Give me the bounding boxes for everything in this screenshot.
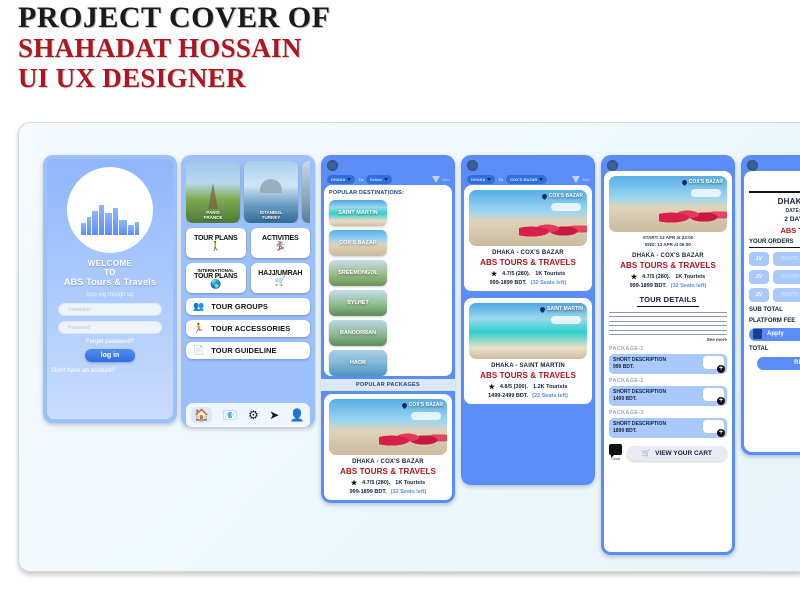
app-logo <box>67 167 153 253</box>
menu-tile-row-2: INTERNATIONAL TOUR PLANS 🌎 HAJJ/UMRAH 🛒 <box>186 263 310 293</box>
package-1-row[interactable]: SHORT DESCRIPTION 999 BDT. + <box>609 354 727 374</box>
package-hero-button[interactable] <box>411 412 441 420</box>
title-line-2: SHAHADAT HOSSAIN <box>18 34 518 64</box>
package-price: 999-1899 BDT. <box>630 283 667 289</box>
login-button[interactable]: log in <box>85 349 135 362</box>
package-1-label: PACKAGE-1 <box>609 346 727 352</box>
order-row[interactable]: 1V PHOTO <box>749 252 800 266</box>
details-appbar <box>601 155 735 171</box>
package-price: 1899 BDT. <box>613 428 666 434</box>
schedule-start: START: 12 APR at 23:00 <box>609 235 727 242</box>
destination-dropdown[interactable]: COX'S BAZAR <box>506 175 547 184</box>
package-rating: 4.7/5 (280). <box>362 480 390 486</box>
results-appbar: DHAKA To COX'S BAZAR filter <box>461 155 595 185</box>
add-package-button[interactable]: + <box>717 397 725 405</box>
welcome-text: WELCOME <box>88 259 133 268</box>
package-brand: ABS TOURS & TRAVELS <box>469 258 587 267</box>
to-label: To <box>358 177 363 182</box>
tile-activities[interactable]: ACTIVITIES 🏂 <box>251 228 311 258</box>
order-item: PHOTO <box>773 270 800 284</box>
package-location-tag: SAINT MARTIN <box>540 306 583 312</box>
cart-icon: 🛒 <box>749 176 800 189</box>
dest-haor[interactable]: HAOR <box>329 350 387 376</box>
title-line-1: PROJECT COVER OF <box>18 2 518 34</box>
destination-value: Select <box>370 177 382 182</box>
order-row[interactable]: 2V PHOTO <box>749 270 800 284</box>
package-price: 999-1899 BDT. <box>490 280 527 286</box>
package-rating-row: ★ 4.7/5 (280). 1K Tourists <box>469 270 587 278</box>
explore-appbar: DHAKA To Select filter <box>321 155 455 185</box>
chat-icon <box>609 444 622 455</box>
package-description: SHORT DESCRIPTION <box>613 357 666 363</box>
screen-login: WELCOME TO ABS Tours & Travels App log i… <box>43 155 177 423</box>
package-seats: (32 Seats left) <box>671 283 707 289</box>
star-icon: ★ <box>491 270 497 278</box>
destination-label: ISTANBULTURKEY <box>244 210 298 221</box>
cart-route: DHAKA - CO <box>749 197 800 206</box>
search-row: DHAKA To COX'S BAZAR filter <box>467 174 590 184</box>
order-qty: 2V <box>749 288 769 302</box>
login-subtitle: App log in/sign up <box>86 292 134 298</box>
view-cart-button[interactable]: 🛒 VIEW YOUR CART <box>627 446 727 461</box>
package-brand: ABS TOURS & TRAVELS <box>469 371 587 380</box>
star-icon: ★ <box>489 383 495 391</box>
back-icon[interactable] <box>327 160 338 171</box>
cart-sheet: 🛒 DHAKA - CO DATE: 25-26 A 2 DAY - 3 NI … <box>744 171 800 452</box>
explore-package-card[interactable]: COX'S BAZAR DHAKA - COX'S BAZAR ABS TOUR… <box>324 394 452 500</box>
order-row[interactable]: 2V PHOTO <box>749 288 800 302</box>
package-price-row: 999-1899 BDT. (32 Seats left) <box>329 489 447 495</box>
activity-icon: 🏂 <box>275 242 286 251</box>
home-icon[interactable]: 🏠 <box>191 407 212 423</box>
dest-label: SREEMONGOL <box>329 260 387 286</box>
destination-card-next[interactable] <box>302 161 310 223</box>
filter-icon <box>572 176 580 183</box>
filter-button[interactable]: filter <box>572 176 590 183</box>
divider <box>749 191 800 193</box>
cover-title: PROJECT COVER OF SHAHADAT HOSSAIN UI UX … <box>18 2 518 94</box>
bar-tour-accessories[interactable]: 🏃 TOUR ACCESSORIES <box>186 320 310 337</box>
package-tourists: 1K Tourists <box>395 480 425 486</box>
apply-label: Apply <box>767 331 784 337</box>
dest-bandorban[interactable]: BANDORBAN <box>329 320 387 346</box>
no-account-text: Don't have an account? create an account <box>52 368 164 374</box>
destination-card-paris[interactable]: PARISFRANCE <box>186 161 240 223</box>
package-tourists: 1.2K Tourists <box>533 384 567 390</box>
origin-dropdown[interactable]: DHAKA <box>467 175 495 184</box>
back-icon[interactable] <box>747 160 758 171</box>
package-3-row[interactable]: SHORT DESCRIPTION 1899 BDT. + <box>609 418 727 438</box>
package-rating-row: ★ 4.7/5 (280). 1K Tourists <box>609 273 727 281</box>
chevron-down-icon <box>539 178 543 181</box>
back-icon[interactable] <box>467 160 478 171</box>
package-3-label: PACKAGE-3 <box>609 410 727 416</box>
package-route: DHAKA - SAINT MARTIN <box>469 363 587 369</box>
dest-sylhet[interactable]: SYLHET <box>329 290 387 316</box>
package-photo: SAINT MARTIN <box>469 303 587 359</box>
package-price-row: 999-1899 BDT. (32 Seats left) <box>469 280 587 286</box>
package-price: 999 BDT. <box>613 364 666 370</box>
add-package-button[interactable]: + <box>717 365 725 373</box>
origin-dropdown[interactable]: DHAKA <box>327 175 355 184</box>
tile-hajj-umrah[interactable]: HAJJ/UMRAH 🛒 <box>251 263 311 293</box>
package-seats: (32 Seats left) <box>391 489 427 495</box>
package-hero-button[interactable] <box>551 316 581 324</box>
location-pin-icon <box>681 178 688 185</box>
package-seats: (22 Seats left) <box>532 393 568 399</box>
order-item: PHOTO <box>773 288 800 302</box>
add-package-button[interactable]: + <box>717 429 725 437</box>
see-more-link[interactable]: See more <box>609 337 727 342</box>
star-icon: ★ <box>351 479 357 487</box>
destination-grid: SAINT MARTIN COX'S BAZAR SREEMONGOL SYLH… <box>329 200 447 376</box>
destination-dropdown[interactable]: Select <box>366 175 392 184</box>
package-photo: COX'S BAZAR <box>329 399 447 455</box>
chevron-down-icon <box>347 178 351 181</box>
dest-label: SAINT MARTIN <box>329 200 387 226</box>
filter-label: filter <box>582 177 590 182</box>
screen-details: COX'S BAZAR START: 12 APR at 23:00 END: … <box>601 155 735 555</box>
destination-label: PARISFRANCE <box>186 210 240 221</box>
chevron-down-icon <box>487 178 491 181</box>
next-destination-photo <box>302 161 310 223</box>
filter-button[interactable]: filter <box>432 176 450 183</box>
details-footer: Chat 🛒 VIEW YOUR CART <box>609 444 727 461</box>
dest-label: HAOR <box>329 350 387 376</box>
package-route: DHAKA - COX'S BAZAR <box>329 459 447 465</box>
tour-details-placeholder-lines <box>609 312 727 336</box>
back-icon[interactable] <box>607 160 618 171</box>
welcome-to-text: TO <box>104 268 116 277</box>
dest-label: BANDORBAN <box>329 320 387 346</box>
forgot-password-link[interactable]: Forget password? <box>86 339 134 345</box>
dest-saint-martin[interactable]: SAINT MARTIN <box>329 200 387 226</box>
beach-umbrellas <box>659 202 727 228</box>
screens-board: WELCOME TO ABS Tours & Travels App log i… <box>18 122 800 572</box>
destination-carousel[interactable]: PARISFRANCE ISTANBULTURKEY <box>186 161 310 223</box>
bar-label: TOUR GROUPS <box>211 302 268 311</box>
username-input[interactable]: Username <box>58 303 162 316</box>
tile-tour-plans[interactable]: TOUR PLANS 🚶 <box>186 228 246 258</box>
package-tourists: 1K Tourists <box>535 271 565 277</box>
package-brand: ABS TOURS & TRAVELS <box>609 261 727 270</box>
person-icon[interactable]: 👤 <box>290 408 305 422</box>
cart-brand: ABS TOURS <box>749 226 800 235</box>
package-route: DHAKA - COX'S BAZAR <box>609 253 727 259</box>
no-account-label: Don't have an account? <box>52 368 115 374</box>
view-cart-label: VIEW YOUR CART <box>655 450 712 457</box>
chat-button[interactable]: Chat <box>609 444 622 461</box>
total-label: TOTAL <box>749 346 800 352</box>
dest-coxs-bazar[interactable]: COX'S BAZAR <box>329 230 387 256</box>
package-2-row[interactable]: SHORT DESCRIPTION 1499 BDT. + <box>609 386 727 406</box>
package-photo: COX'S BAZAR <box>609 176 727 232</box>
origin-value: DHAKA <box>471 177 485 182</box>
group-icon: 👥 <box>193 301 204 312</box>
cart-date: DATE: 25-26 A <box>749 208 800 214</box>
package-rating: 4.8/5 (300). <box>500 384 528 390</box>
send-icon[interactable]: ➤ <box>269 408 279 422</box>
dest-label: COX'S BAZAR <box>329 230 387 256</box>
bar-label: TOUR GUIDELINE <box>211 346 276 355</box>
package-price-row: 999-1899 BDT. (32 Seats left) <box>609 283 727 289</box>
to-label: To <box>498 177 503 182</box>
review-button[interactable]: REVIEW <box>757 357 800 370</box>
popular-packages-title: POPULAR PACKAGES <box>321 379 455 391</box>
screen-results: DHAKA To COX'S BAZAR filter <box>461 155 595 485</box>
package-price: 1499-2499 BDT. <box>488 393 528 399</box>
package-location-tag: COX'S BAZAR <box>542 193 583 199</box>
traveler-icon: 🚶 <box>210 242 221 251</box>
backpack-icon: 🏃 <box>193 323 204 334</box>
filter-icon <box>432 176 440 183</box>
package-hero-button[interactable] <box>551 203 581 211</box>
filter-label: filter <box>442 177 450 182</box>
popular-destinations-title: POPULAR DESTINATIONS: <box>329 190 447 196</box>
result-card-1[interactable]: COX'S BAZAR DHAKA - COX'S BAZAR ABS TOUR… <box>464 185 592 291</box>
details-sheet: COX'S BAZAR START: 12 APR at 23:00 END: … <box>604 171 732 552</box>
package-seats: (32 Seats left) <box>531 280 567 286</box>
title-line-3: UI UX DESIGNER <box>18 64 518 94</box>
package-tourists: 1K Tourists <box>675 274 705 280</box>
gear-icon[interactable]: ⚙ <box>248 408 259 422</box>
package-rating-row: ★ 4.8/5 (300). 1.2K Tourists <box>469 383 587 391</box>
package-description: SHORT DESCRIPTION <box>613 421 666 427</box>
cart-appbar <box>741 155 800 171</box>
sub-total-label: SUB TOTAL <box>749 307 800 313</box>
tour-details-title: TOUR DETAILS <box>637 295 699 307</box>
package-brand: ABS TOURS & TRAVELS <box>329 467 447 476</box>
coupon-icon <box>753 329 762 339</box>
chevron-down-icon <box>384 178 388 181</box>
star-icon: ★ <box>631 273 637 281</box>
your-orders-title: YOUR ORDERS <box>749 239 800 248</box>
package-description: SHORT DESCRIPTION <box>613 389 666 395</box>
order-qty: 1V <box>749 252 769 266</box>
cart-duration: 2 DAY - 3 NI <box>749 216 800 223</box>
package-hero-button[interactable] <box>691 189 721 197</box>
explore-sheet: POPULAR DESTINATIONS: SAINT MARTIN COX'S… <box>324 185 452 376</box>
screen-menu: PARISFRANCE ISTANBULTURKEY TOU <box>181 155 315 427</box>
tile-international-tour-plans[interactable]: INTERNATIONAL TOUR PLANS 🌎 <box>186 263 246 293</box>
location-pin-icon <box>541 192 548 199</box>
search-row: DHAKA To Select filter <box>327 174 450 184</box>
menu-tile-row-1: TOUR PLANS 🚶 ACTIVITIES 🏂 <box>186 228 310 258</box>
dest-label: SYLHET <box>329 290 387 316</box>
package-location-tag: COX'S BAZAR <box>402 402 443 408</box>
package-rating: 4.7/5 (280). <box>502 271 530 277</box>
package-2-label: PACKAGE-2 <box>609 378 727 384</box>
origin-value: DHAKA <box>331 177 345 182</box>
package-location-tag: COX'S BAZAR <box>682 179 723 185</box>
package-rating-row: ★ 4.7/5 (280). 1K Tourists <box>329 479 447 487</box>
guide-icon: 📄 <box>193 345 204 356</box>
password-input[interactable]: Password <box>58 321 162 334</box>
bar-label: TOUR ACCESSORIES <box>211 324 290 333</box>
package-rating: 4.7/5 (280). <box>642 274 670 280</box>
package-route: DHAKA - COX'S BAZAR <box>469 250 587 256</box>
dest-sreemongol[interactable]: SREEMONGOL <box>329 260 387 286</box>
skyline-icon <box>79 201 141 235</box>
order-qty: 2V <box>749 270 769 284</box>
location-pin-icon <box>539 305 546 312</box>
screen-explore: DHAKA To Select filter POPULAR DESTINATI <box>321 155 455 503</box>
globe-icon: 🌎 <box>210 280 221 289</box>
beach-umbrellas <box>519 216 587 242</box>
destination-card-istanbul[interactable]: ISTANBULTURKEY <box>244 161 298 223</box>
brand-name: ABS Tours & Travels <box>64 277 156 287</box>
apply-coupon-button[interactable]: Apply <box>749 328 800 341</box>
destination-value: COX'S BAZAR <box>510 177 537 182</box>
kaaba-icon: 🛒 <box>275 277 286 286</box>
bar-tour-guideline[interactable]: 📄 TOUR GUIDELINE <box>186 342 310 359</box>
cart-icon: 🛒 <box>642 449 650 457</box>
package-photo: COX'S BAZAR <box>469 190 587 246</box>
schedule-end: END: 13 APR at 06:00 <box>609 242 727 249</box>
package-price-row: 1499-2499 BDT. (22 Seats left) <box>469 393 587 399</box>
package-price: 999-1899 BDT. <box>350 489 387 495</box>
bar-tour-groups[interactable]: 👥 TOUR GROUPS <box>186 298 310 315</box>
beach-umbrellas <box>379 425 447 451</box>
location-pin-icon <box>401 401 408 408</box>
platform-fee-label: PLATFORM FEE <box>749 318 800 324</box>
bottom-nav[interactable]: 🏠 📧 ⚙ ➤ 👤 <box>186 403 310 427</box>
package-price: 1499 BDT. <box>613 396 666 402</box>
result-card-2[interactable]: SAINT MARTIN DHAKA - SAINT MARTIN ABS TO… <box>464 298 592 404</box>
screen-cart: 🛒 DHAKA - CO DATE: 25-26 A 2 DAY - 3 NI … <box>741 155 800 455</box>
create-account-link[interactable]: create an account <box>117 368 165 374</box>
order-item: PHOTO <box>773 252 800 266</box>
inbox-icon[interactable]: 📧 <box>223 408 238 422</box>
